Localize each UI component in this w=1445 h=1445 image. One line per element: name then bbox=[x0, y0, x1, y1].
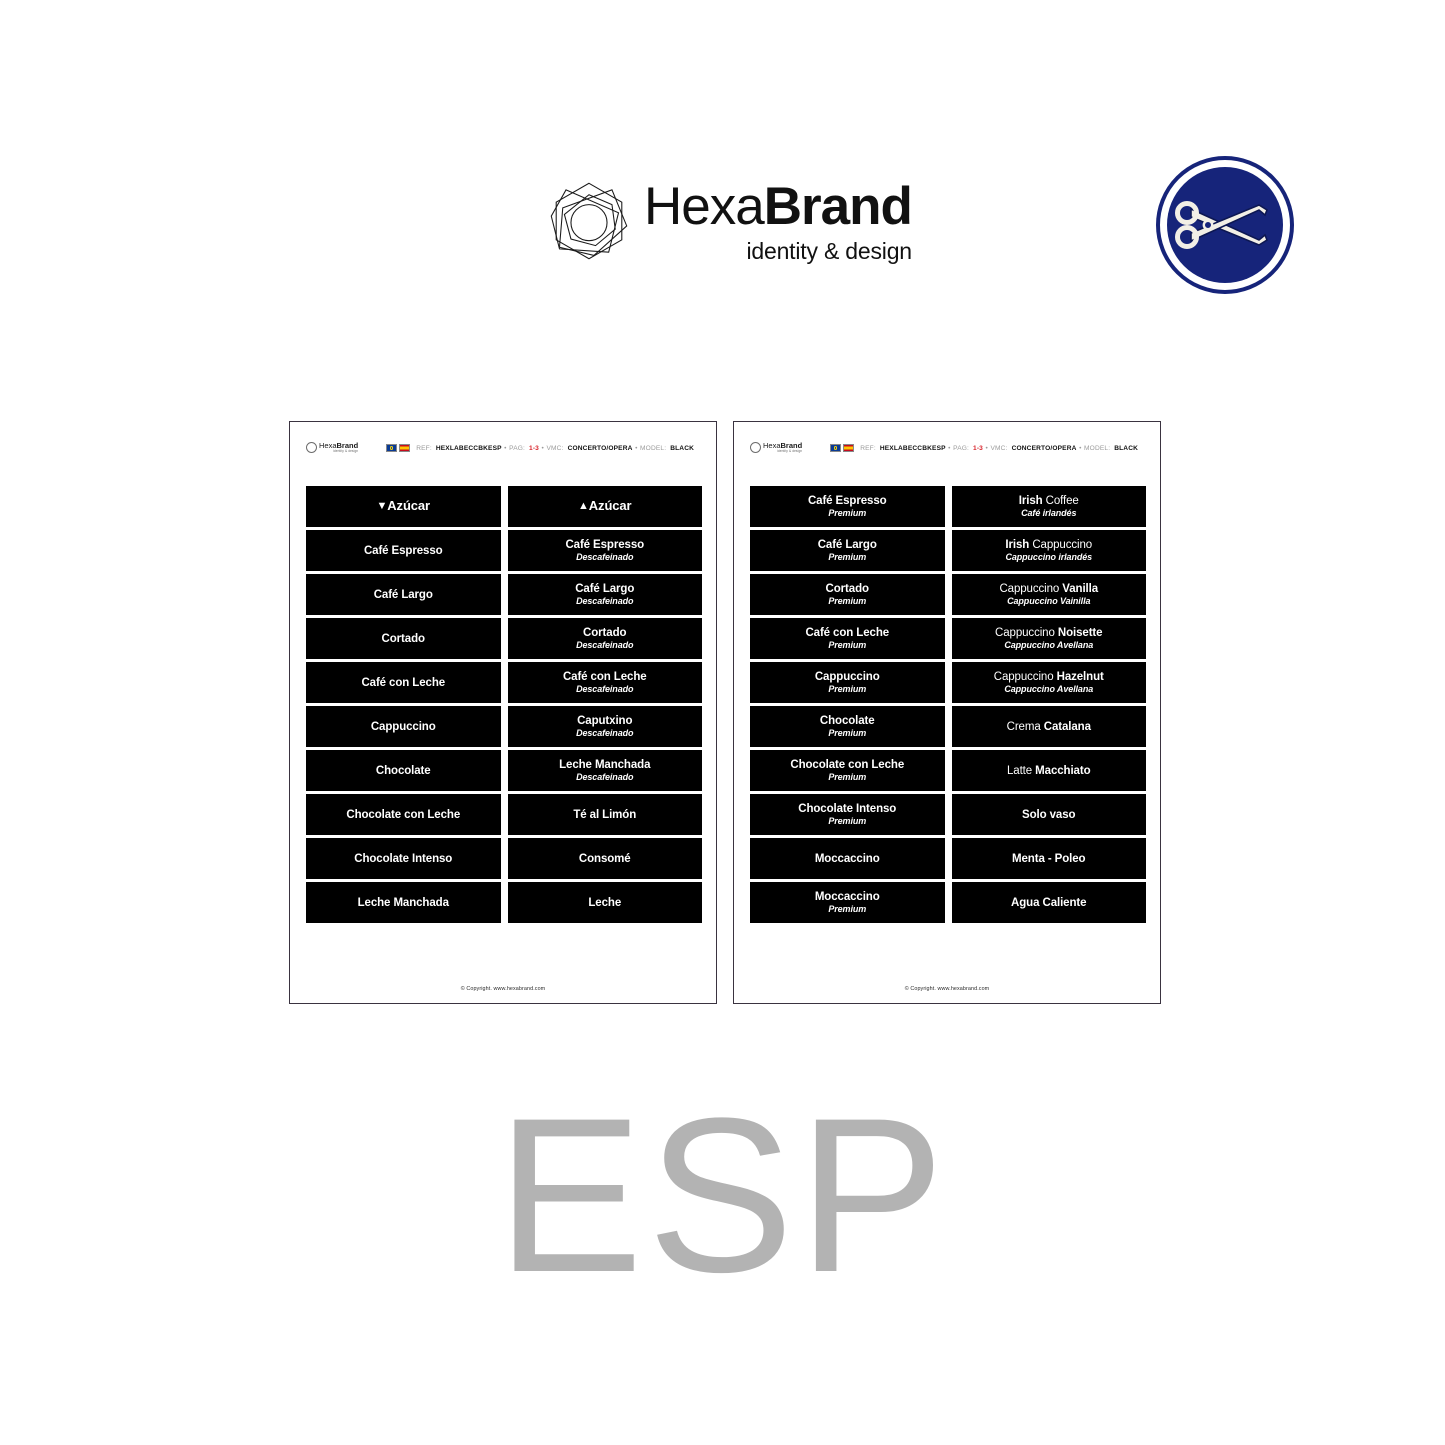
label-main-text: ▼Azúcar bbox=[376, 499, 430, 514]
label-text-bold: Irish bbox=[1005, 539, 1029, 551]
sheet-mini-logo: HexaBrand identity & design bbox=[306, 442, 358, 453]
brand-name: HexaBrand bbox=[644, 178, 912, 236]
label-main-text: Leche Manchada bbox=[358, 896, 449, 910]
label-sub-text: Premium bbox=[828, 552, 866, 563]
vmc-label: VMC: bbox=[990, 445, 1007, 452]
label-main-text: Moccaccino bbox=[815, 852, 880, 866]
label-tile[interactable]: Cappuccino NoisetteCappuccino Avellana bbox=[952, 618, 1147, 659]
pag-label: PAG: bbox=[509, 445, 525, 452]
scissors-badge bbox=[1155, 155, 1295, 295]
label-sub-text: Premium bbox=[828, 772, 866, 783]
eu-flag-icon bbox=[830, 444, 841, 452]
mini-logo-tagline: identity & design bbox=[319, 450, 358, 453]
label-tile[interactable]: Chocolate IntensoPremium bbox=[750, 794, 945, 835]
sheet-header: HexaBrand identity & design REF: HEXLABE… bbox=[290, 438, 716, 458]
meta-separator: • bbox=[542, 445, 544, 452]
model-label: MODEL: bbox=[640, 445, 666, 452]
label-main-text: Cappuccino bbox=[371, 720, 436, 734]
label-sub-text: Premium bbox=[828, 596, 866, 607]
pag-value: 1-3 bbox=[529, 445, 539, 452]
label-column: Café EspressoPremiumCafé LargoPremiumCor… bbox=[750, 486, 945, 923]
label-sub-text: Premium bbox=[828, 728, 866, 739]
hexagon-rings-icon bbox=[548, 180, 630, 262]
label-tile[interactable]: Cappuccino VanillaCappuccino Vainilla bbox=[952, 574, 1147, 615]
label-tile[interactable]: Leche ManchadaDescafeinado bbox=[508, 750, 703, 791]
label-tile[interactable]: Chocolate con LechePremium bbox=[750, 750, 945, 791]
meta-separator: • bbox=[504, 445, 506, 452]
label-sub-text: Premium bbox=[828, 640, 866, 651]
label-main-text: Leche Manchada bbox=[559, 758, 650, 772]
label-main-text: Cappuccino Vanilla bbox=[999, 582, 1098, 596]
label-main-text: Chocolate bbox=[376, 764, 431, 778]
label-text-bold: Vanilla bbox=[1062, 583, 1098, 595]
hexagon-rings-icon bbox=[306, 442, 317, 453]
brand-name-light: Hexa bbox=[644, 177, 764, 236]
eu-flag-icon bbox=[386, 444, 397, 452]
label-text-regular: Crema bbox=[1007, 721, 1044, 733]
label-tile[interactable]: Agua Caliente bbox=[952, 882, 1147, 923]
label-main-text: Cappuccino Hazelnut bbox=[994, 670, 1104, 684]
language-code: ESP bbox=[0, 1085, 1445, 1305]
label-main-text: Irish Coffee bbox=[1019, 494, 1079, 508]
label-main-text: Menta - Poleo bbox=[1012, 852, 1085, 866]
label-main-text: Café Largo bbox=[374, 588, 433, 602]
label-main-text: Agua Caliente bbox=[1011, 896, 1086, 910]
label-sub-text: Premium bbox=[828, 508, 866, 519]
label-tile[interactable]: CortadoPremium bbox=[750, 574, 945, 615]
label-tile[interactable]: Solo vaso bbox=[952, 794, 1147, 835]
label-tile[interactable]: Café EspressoDescafeinado bbox=[508, 530, 703, 571]
hexabrand-logo: HexaBrand identity & design bbox=[548, 178, 912, 264]
label-sub-text: Premium bbox=[828, 904, 866, 915]
label-text-regular: Coffee bbox=[1043, 495, 1079, 507]
label-tile[interactable]: Té al Limón bbox=[508, 794, 703, 835]
sheet-meta-line: REF: HEXLABECCBKESP • PAG: 1-3 • VMC: CO… bbox=[830, 444, 1138, 452]
label-tile[interactable]: Café LargoPremium bbox=[750, 530, 945, 571]
label-sub-text: Cappuccino Avellana bbox=[1004, 684, 1093, 695]
sheet-meta-line: REF: HEXLABECCBKESP • PAG: 1-3 • VMC: CO… bbox=[386, 444, 694, 452]
label-tile[interactable]: Cappuccino bbox=[306, 706, 501, 747]
label-tile[interactable]: Consomé bbox=[508, 838, 703, 879]
model-value: BLACK bbox=[1114, 445, 1138, 452]
sheet-footer: © Copyright. www.hexabrand.com bbox=[290, 986, 716, 992]
label-text-regular: Latte bbox=[1007, 765, 1035, 777]
label-main-text: Té al Limón bbox=[573, 808, 636, 822]
ref-value: HEXLABECCBKESP bbox=[436, 445, 502, 452]
label-sub-text: Descafeinado bbox=[576, 552, 633, 563]
label-tile[interactable]: Café Largo bbox=[306, 574, 501, 615]
label-main-text: Cortado bbox=[826, 582, 869, 596]
label-main-text: Cappuccino Noisette bbox=[995, 626, 1102, 640]
label-tile[interactable]: Cappuccino HazelnutCappuccino Avellana bbox=[952, 662, 1147, 703]
label-tile[interactable]: CortadoDescafeinado bbox=[508, 618, 703, 659]
label-main-text: Café Espresso bbox=[565, 538, 644, 552]
label-main-text: Café con Leche bbox=[361, 676, 445, 690]
hexagon-rings-icon bbox=[750, 442, 761, 453]
meta-separator: • bbox=[986, 445, 988, 452]
vmc-label: VMC: bbox=[546, 445, 563, 452]
spain-flag-icon bbox=[843, 444, 854, 452]
triangle-up-icon: ▲ bbox=[578, 500, 589, 512]
label-main-text: Cortado bbox=[382, 632, 425, 646]
label-tile[interactable]: Menta - Poleo bbox=[952, 838, 1147, 879]
sheet-footer: © Copyright. www.hexabrand.com bbox=[734, 986, 1160, 992]
label-text-bold: Macchiato bbox=[1035, 765, 1090, 777]
label-main-text: Latte Macchiato bbox=[1007, 764, 1091, 778]
label-sub-text: Descafeinado bbox=[576, 684, 633, 695]
label-header-tile[interactable]: ▼Azúcar bbox=[306, 486, 501, 527]
label-main-text: Crema Catalana bbox=[1007, 720, 1091, 734]
brand-name-bold: Brand bbox=[764, 177, 912, 236]
label-tile[interactable]: Leche bbox=[508, 882, 703, 923]
sheet-header: HexaBrand identity & design REF: HEXLABE… bbox=[734, 438, 1160, 458]
label-sub-text: Descafeinado bbox=[576, 596, 633, 607]
label-text-regular: Cappuccino bbox=[1029, 539, 1092, 551]
label-header-tile[interactable]: ▲Azúcar bbox=[508, 486, 703, 527]
ref-label: REF: bbox=[860, 445, 876, 452]
model-value: BLACK bbox=[670, 445, 694, 452]
label-tile[interactable]: Leche Manchada bbox=[306, 882, 501, 923]
meta-separator: • bbox=[948, 445, 950, 452]
label-text-bold: Catalana bbox=[1044, 721, 1091, 733]
sheet-mini-logo: HexaBrand identity & design bbox=[750, 442, 802, 453]
model-label: MODEL: bbox=[1084, 445, 1110, 452]
spain-flag-icon bbox=[399, 444, 410, 452]
label-sub-text: Cappuccino Avellana bbox=[1004, 640, 1093, 651]
ref-label: REF: bbox=[416, 445, 432, 452]
label-sheet-left: HexaBrand identity & design REF: HEXLABE… bbox=[289, 421, 717, 1004]
label-sub-text: Premium bbox=[828, 816, 866, 827]
label-main-text: ▲Azúcar bbox=[578, 499, 632, 514]
label-column: ▼AzúcarCafé EspressoCafé LargoCortadoCaf… bbox=[306, 486, 501, 923]
vmc-value: CONCERTO/OPERA bbox=[568, 445, 633, 452]
label-main-text: Chocolate Intenso bbox=[798, 802, 896, 816]
label-tile[interactable]: Café con LecheDescafeinado bbox=[508, 662, 703, 703]
label-sub-text: Descafeinado bbox=[576, 640, 633, 651]
label-sub-text: Premium bbox=[828, 684, 866, 695]
label-sheet-right: HexaBrand identity & design REF: HEXLABE… bbox=[733, 421, 1161, 1004]
label-tile[interactable]: Cortado bbox=[306, 618, 501, 659]
label-main-text: Café con Leche bbox=[805, 626, 889, 640]
label-sub-text: Cappuccino irlandés bbox=[1005, 552, 1092, 563]
label-sub-text: Cappuccino Vainilla bbox=[1007, 596, 1090, 607]
triangle-down-icon: ▼ bbox=[376, 500, 387, 512]
label-grid: Café EspressoPremiumCafé LargoPremiumCor… bbox=[750, 486, 1146, 923]
label-main-text: Leche bbox=[588, 896, 621, 910]
label-main-text: Consomé bbox=[579, 852, 631, 866]
label-tile[interactable]: Irish CappuccinoCappuccino irlandés bbox=[952, 530, 1147, 571]
label-text-bold: Noisette bbox=[1058, 627, 1103, 639]
label-tile[interactable]: Café LargoDescafeinado bbox=[508, 574, 703, 615]
label-main-text: Café con Leche bbox=[563, 670, 647, 684]
label-tile[interactable]: Irish CoffeeCafé irlandés bbox=[952, 486, 1147, 527]
ref-value: HEXLABECCBKESP bbox=[880, 445, 946, 452]
label-main-text: Café Largo bbox=[818, 538, 877, 552]
label-main-text: Chocolate con Leche bbox=[346, 808, 460, 822]
label-main-text: Caputxino bbox=[577, 714, 632, 728]
label-sub-text: Café irlandés bbox=[1021, 508, 1076, 519]
meta-separator: • bbox=[635, 445, 637, 452]
label-tile[interactable]: Café EspressoPremium bbox=[750, 486, 945, 527]
label-grid: ▼AzúcarCafé EspressoCafé LargoCortadoCaf… bbox=[306, 486, 702, 923]
label-main-text: Cappuccino bbox=[815, 670, 880, 684]
label-main-text: Moccaccino bbox=[815, 890, 880, 904]
pag-label: PAG: bbox=[953, 445, 969, 452]
label-main-text: Irish Cappuccino bbox=[1005, 538, 1092, 552]
brand-header: HexaBrand identity & design bbox=[0, 0, 1445, 330]
label-tile[interactable]: Chocolate con Leche bbox=[306, 794, 501, 835]
label-tile[interactable]: Café Espresso bbox=[306, 530, 501, 571]
label-tile[interactable]: Chocolate bbox=[306, 750, 501, 791]
label-text-regular: Cappuccino bbox=[995, 627, 1058, 639]
label-tile[interactable]: CappuccinoPremium bbox=[750, 662, 945, 703]
meta-separator: • bbox=[1079, 445, 1081, 452]
label-tile[interactable]: Moccaccino bbox=[750, 838, 945, 879]
label-main-text: Cortado bbox=[583, 626, 626, 640]
label-main-text: Café Largo bbox=[575, 582, 634, 596]
label-text-regular: Cappuccino bbox=[999, 583, 1062, 595]
label-sub-text: Descafeinado bbox=[576, 772, 633, 783]
label-main-text: Chocolate Intenso bbox=[354, 852, 452, 866]
label-tile[interactable]: MoccaccinoPremium bbox=[750, 882, 945, 923]
label-tile[interactable]: CaputxinoDescafeinado bbox=[508, 706, 703, 747]
label-text-bold: Irish bbox=[1019, 495, 1043, 507]
brand-tagline: identity & design bbox=[747, 238, 912, 264]
label-column: Irish CoffeeCafé irlandésIrish Cappuccin… bbox=[952, 486, 1147, 923]
label-main-text: Chocolate bbox=[820, 714, 875, 728]
label-tile[interactable]: Café con LechePremium bbox=[750, 618, 945, 659]
label-text-bold: Hazelnut bbox=[1057, 671, 1104, 683]
label-tile[interactable]: Latte Macchiato bbox=[952, 750, 1147, 791]
label-main-text: Café Espresso bbox=[364, 544, 443, 558]
label-main-text: Café Espresso bbox=[808, 494, 887, 508]
label-main-text: Solo vaso bbox=[1022, 808, 1075, 822]
label-text-regular: Cappuccino bbox=[994, 671, 1057, 683]
label-tile[interactable]: Café con Leche bbox=[306, 662, 501, 703]
label-tile[interactable]: Chocolate Intenso bbox=[306, 838, 501, 879]
label-column: ▲AzúcarCafé EspressoDescafeinadoCafé Lar… bbox=[508, 486, 703, 923]
label-sub-text: Descafeinado bbox=[576, 728, 633, 739]
label-tile[interactable]: Crema Catalana bbox=[952, 706, 1147, 747]
label-main-text: Chocolate con Leche bbox=[790, 758, 904, 772]
pag-value: 1-3 bbox=[973, 445, 983, 452]
mini-logo-tagline: identity & design bbox=[763, 450, 802, 453]
label-tile[interactable]: ChocolatePremium bbox=[750, 706, 945, 747]
vmc-value: CONCERTO/OPERA bbox=[1012, 445, 1077, 452]
